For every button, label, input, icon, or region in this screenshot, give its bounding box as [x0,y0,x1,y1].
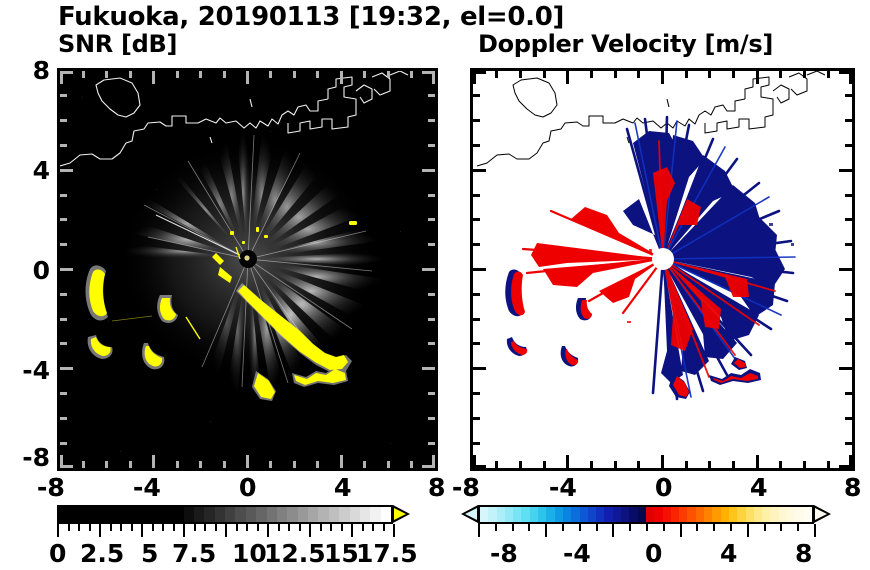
colorbar-cell [696,507,704,522]
colorbar-cell [152,507,162,522]
colorbar-minor-tick [596,524,598,531]
colorbar-minor-tick [663,524,665,531]
colorbar-cell [712,507,720,522]
colorbar-cell [173,507,183,522]
colorbar-cell [604,507,612,522]
colorbar-cell [737,507,745,522]
colorbar-cell [754,507,762,522]
colorbar-cell [770,507,778,522]
colorbar-cell [762,507,770,522]
colorbar-cell [580,507,588,522]
snr-cb-value-10: 10 [232,539,267,568]
colorbar-cell [613,507,621,522]
colorbar-minor-tick [797,524,799,531]
colorbar-cell [204,507,214,522]
doppler-colorbar-extend-arrow-high-fill [815,508,827,520]
colorbar-cell [267,507,277,522]
snr-panel-title: SNR [dB] [58,30,177,58]
snr-colorbar-extend-arrow-fill [394,508,406,520]
colorbar-cell [621,507,629,522]
colorbar-cell [671,507,679,522]
doppler-cb-value-m4: -4 [563,539,591,568]
snr-cb-value-5: 5 [141,539,158,568]
colorbar-minor-tick [173,524,175,531]
colorbar-major-tick [351,524,353,537]
colorbar-cell [787,507,795,522]
colorbar-cell [596,507,604,522]
doppler-cb-value-8: 8 [795,539,812,568]
colorbar-cell [235,507,245,522]
colorbar-minor-tick [162,524,164,531]
colorbar-major-tick [267,524,269,537]
snr-cb-value-12p5: 12.5 [264,539,326,568]
doppler-cb-value-m8: -8 [490,539,518,568]
colorbar-cell [530,507,538,522]
colorbar-minor-tick [120,524,122,531]
colorbar-minor-tick [194,524,196,531]
snr-cb-value-7p5: 7.5 [172,539,216,568]
colorbar-cell [132,507,142,522]
colorbar-minor-tick [110,524,112,531]
colorbar-minor-tick [341,524,343,531]
colorbar-major-tick [99,524,101,537]
colorbar-cell [121,507,131,522]
snr-ytick-8: 8 [8,56,50,85]
page-title: Fukuoka, 20190113 [19:32, el=0.0] [58,2,564,32]
snr-colorbar[interactable] [57,505,393,524]
snr-plot-panel[interactable] [57,68,438,471]
colorbar-cell [513,507,521,522]
colorbar-major-tick [478,524,480,537]
colorbar-cell [184,507,194,522]
colorbar-minor-tick [89,524,91,531]
doppler-plot-panel[interactable] [470,68,855,471]
colorbar-minor-tick [696,524,698,531]
doppler-cb-top-8: 8 [844,473,861,502]
doppler-cb-value-0: 0 [645,539,662,568]
colorbar-cell [687,507,695,522]
colorbar-minor-tick [320,524,322,531]
colorbar-cell [721,507,729,522]
colorbar-cell [329,507,339,522]
colorbar-cell [480,507,488,522]
colorbar-cell [215,507,225,522]
colorbar-cell [795,507,803,522]
doppler-panel-title: Doppler Velocity [m/s] [478,30,773,58]
colorbar-major-tick [183,524,185,537]
colorbar-minor-tick [495,524,497,531]
colorbar-cell [538,507,546,522]
colorbar-minor-tick [246,524,248,531]
colorbar-minor-tick [257,524,259,531]
snr-colorbar-ticks [57,524,393,537]
colorbar-cell [679,507,687,522]
colorbar-cell [256,507,266,522]
colorbar-minor-tick [78,524,80,531]
doppler-cb-top-0: 0 [655,473,672,502]
colorbar-minor-tick [646,524,648,531]
colorbar-cell [277,507,287,522]
colorbar-minor-tick [579,524,581,531]
colorbar-minor-tick [562,524,564,531]
colorbar-cell [163,507,173,522]
colorbar-major-tick [814,524,816,537]
colorbar-cell [59,507,69,522]
colorbar-cell [638,507,646,522]
colorbar-minor-tick [383,524,385,531]
colorbar-cell [497,507,505,522]
colorbar-minor-tick [512,524,514,531]
colorbar-minor-tick [131,524,133,531]
colorbar-cell [571,507,579,522]
colorbar-cell [339,507,349,522]
colorbar-major-tick [309,524,311,537]
colorbar-minor-tick [299,524,301,531]
colorbar-cell [80,507,90,522]
snr-cb-value-0: 0 [49,539,66,568]
colorbar-major-tick [545,524,547,537]
colorbar-minor-tick [528,524,530,531]
colorbar-cell [521,507,529,522]
colorbar-cell [746,507,754,522]
colorbar-cell [779,507,787,522]
snr-cb-value-2p5: 2.5 [80,539,124,568]
colorbar-minor-tick [68,524,70,531]
colorbar-cell [804,507,812,522]
colorbar-minor-tick [362,524,364,531]
colorbar-minor-tick [278,524,280,531]
doppler-colorbar-extend-arrow-low-fill [465,508,477,520]
snr-colorbar-group[interactable]: -8 -4 0 4 8 0 2.5 5 7.5 10 12.5 15 17.5 [0,495,440,570]
colorbar-cell [555,507,563,522]
snr-cb-value-17p5: 17.5 [356,539,418,568]
snr-cb-top-m4: -4 [133,473,161,502]
doppler-colorbar-ticks [478,524,814,537]
colorbar-minor-tick [236,524,238,531]
snr-cb-value-15: 15 [324,539,359,568]
colorbar-cell [654,507,662,522]
snr-cb-top-4: 4 [334,473,351,502]
colorbar-cell [563,507,571,522]
colorbar-cell [505,507,513,522]
colorbar-major-tick [680,524,682,537]
colorbar-cell [111,507,121,522]
colorbar-cell [704,507,712,522]
colorbar-cell [663,507,671,522]
colorbar-cell [488,507,496,522]
doppler-colorbar-group[interactable]: -8 -4 0 4 8 -8 -4 0 4 8 [440,495,870,570]
colorbar-cell [546,507,554,522]
colorbar-cell [729,507,737,522]
colorbar-minor-tick [288,524,290,531]
snr-ytick-0: 0 [8,256,50,285]
colorbar-major-tick [747,524,749,537]
colorbar-major-tick [393,524,395,537]
doppler-radar-image [473,71,852,468]
colorbar-minor-tick [330,524,332,531]
colorbar-major-tick [141,524,143,537]
snr-cb-top-m8: -8 [37,473,65,502]
colorbar-minor-tick [780,524,782,531]
colorbar-cell [90,507,100,522]
colorbar-cell [101,507,111,522]
colorbar-cell [629,507,637,522]
doppler-cb-top-m4: -4 [549,473,577,502]
colorbar-cell [318,507,328,522]
colorbar-cell [69,507,79,522]
snr-cb-top-0: 0 [239,473,256,502]
colorbar-cell [298,507,308,522]
colorbar-cell [142,507,152,522]
colorbar-minor-tick [215,524,217,531]
colorbar-cell [350,507,360,522]
colorbar-cell [360,507,370,522]
colorbar-major-tick [612,524,614,537]
colorbar-major-tick [57,524,59,537]
colorbar-cell [194,507,204,522]
colorbar-minor-tick [372,524,374,531]
snr-ytick-4: 4 [8,156,50,185]
colorbar-cell [381,507,391,522]
colorbar-minor-tick [764,524,766,531]
colorbar-cell [370,507,380,522]
doppler-colorbar[interactable] [478,505,814,524]
colorbar-major-tick [225,524,227,537]
doppler-cb-top-4: 4 [750,473,767,502]
doppler-cb-value-4: 4 [720,539,737,568]
colorbar-cell [308,507,318,522]
snr-ytick-m8: -8 [0,443,50,472]
colorbar-cell [287,507,297,522]
colorbar-cell [646,507,654,522]
colorbar-cell [225,507,235,522]
snr-ytick-m4: -4 [0,356,50,385]
colorbar-minor-tick [713,524,715,531]
snr-radar-image [60,71,435,468]
colorbar-cell [588,507,596,522]
colorbar-cell [246,507,256,522]
colorbar-minor-tick [152,524,154,531]
colorbar-minor-tick [730,524,732,531]
colorbar-minor-tick [629,524,631,531]
colorbar-minor-tick [204,524,206,531]
doppler-cb-top-m8: -8 [452,473,480,502]
